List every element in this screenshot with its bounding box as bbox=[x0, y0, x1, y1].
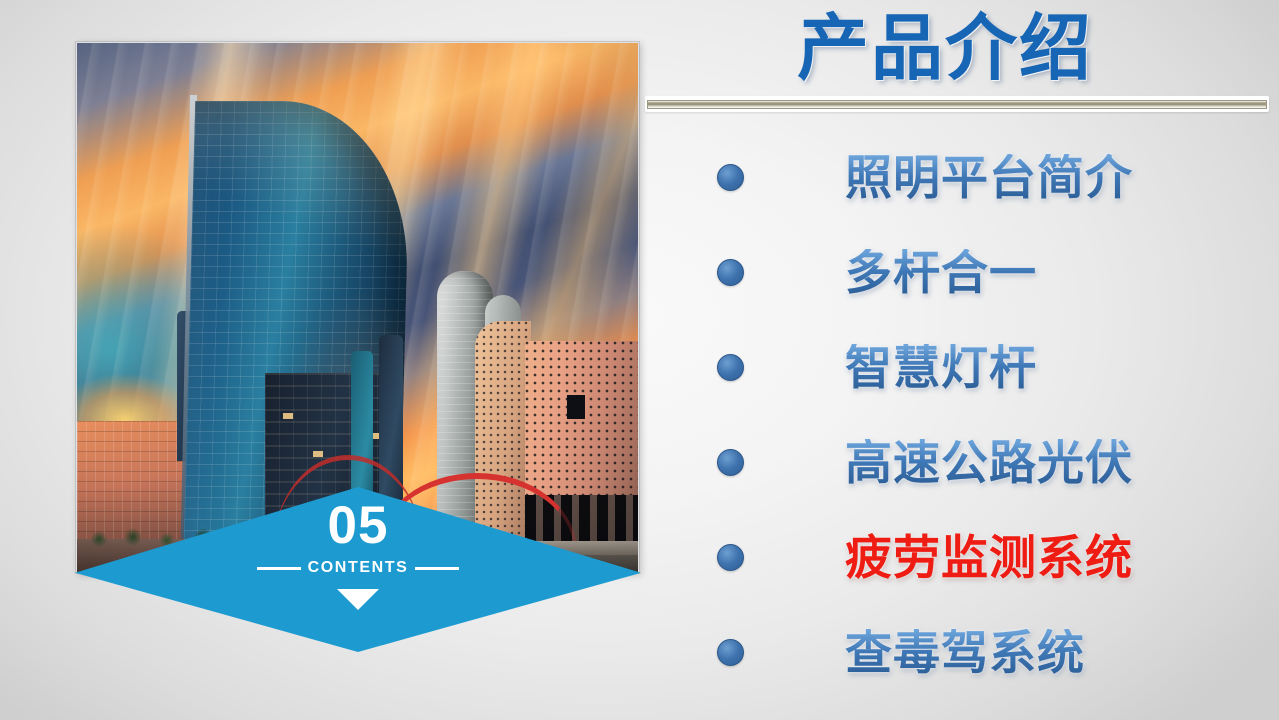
list-item[interactable]: 查毒驾系统 bbox=[645, 605, 1279, 700]
title-divider-bar bbox=[647, 100, 1267, 109]
bullet-dot-icon bbox=[717, 354, 744, 381]
page-title: 产品介绍 bbox=[645, 8, 1245, 91]
caret-down-icon bbox=[337, 589, 379, 610]
agenda-list: 照明平台简介 多杆合一 智慧灯杆 高速公路光伏 疲劳监测系统 查毒驾系统 bbox=[645, 130, 1279, 700]
bullet-dot-icon bbox=[717, 639, 744, 666]
bullet-dot-icon bbox=[717, 164, 744, 191]
bullet-dot-icon bbox=[717, 544, 744, 571]
list-item[interactable]: 智慧灯杆 bbox=[645, 320, 1279, 415]
bullet-dot-icon bbox=[717, 449, 744, 476]
contents-label: CONTENTS bbox=[308, 559, 409, 577]
contents-rule-right bbox=[415, 567, 459, 570]
presentation-slide: 05 CONTENTS 产品介绍 照明平台简介 多杆合一 智慧灯杆 高速公路光伏 bbox=[0, 0, 1279, 720]
list-item[interactable]: 多杆合一 bbox=[645, 225, 1279, 320]
list-item-label: 疲劳监测系统 bbox=[845, 534, 1133, 581]
list-item-label: 高速公路光伏 bbox=[845, 439, 1133, 486]
list-item-label: 多杆合一 bbox=[845, 249, 1037, 296]
contents-rule-left bbox=[257, 567, 301, 570]
title-divider bbox=[645, 96, 1269, 112]
contents-label-row: CONTENTS bbox=[75, 559, 641, 577]
list-item-label: 智慧灯杆 bbox=[845, 344, 1037, 391]
list-item-label: 照明平台简介 bbox=[845, 154, 1133, 201]
list-item-label: 查毒驾系统 bbox=[845, 629, 1085, 676]
list-item[interactable]: 照明平台简介 bbox=[645, 130, 1279, 225]
list-item[interactable]: 高速公路光伏 bbox=[645, 415, 1279, 510]
list-item-highlighted[interactable]: 疲劳监测系统 bbox=[645, 510, 1279, 605]
bullet-dot-icon bbox=[717, 259, 744, 286]
